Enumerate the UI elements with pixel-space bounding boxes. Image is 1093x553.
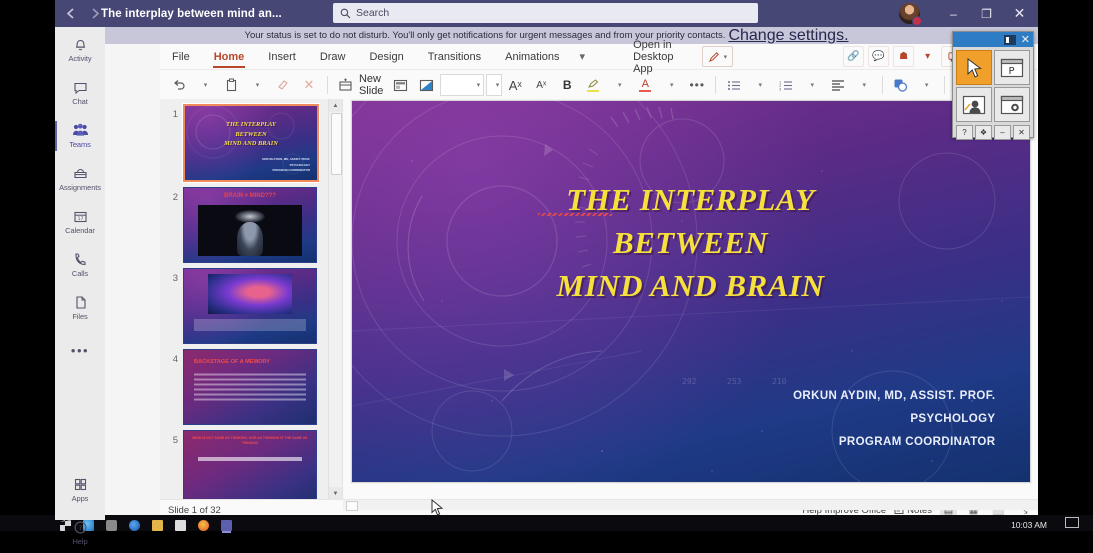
author-line-1: ORKUN AYDIN, MD, ASSIST. PROF. bbox=[793, 385, 995, 408]
windows-taskbar[interactable]: 10:03 AM bbox=[0, 515, 1093, 531]
minimize-button[interactable]: – bbox=[937, 0, 970, 27]
font-color-bar bbox=[639, 90, 651, 92]
highlight-color-bar bbox=[587, 90, 599, 92]
pen-icon bbox=[708, 51, 720, 63]
tab-transitions[interactable]: Transitions bbox=[416, 44, 493, 69]
thumb-title-line-3: MIND AND BRAIN bbox=[185, 139, 317, 149]
change-settings-link[interactable]: Change settings. bbox=[728, 27, 848, 45]
screen-root: chevron-left-icon The interplay between … bbox=[0, 0, 1093, 531]
new-slide-icon[interactable] bbox=[332, 74, 358, 96]
title-line-3: MIND AND BRAIN bbox=[352, 265, 1030, 308]
format-painter-button[interactable] bbox=[270, 74, 296, 96]
thumbnail-preview: BRAIN ≠ MIND??? bbox=[183, 187, 317, 263]
settings-icon[interactable]: ❖ bbox=[975, 125, 992, 140]
reset-icon bbox=[419, 79, 434, 92]
undo-dropdown[interactable]: ▾ bbox=[192, 74, 218, 96]
sidebar-item-calendar[interactable]: 17 Calendar bbox=[55, 202, 105, 242]
grow-font-button[interactable]: Aˣ bbox=[502, 74, 528, 96]
undo-icon bbox=[172, 78, 186, 92]
align-button[interactable] bbox=[825, 74, 851, 96]
cursor-arrow-glyph bbox=[964, 57, 984, 79]
sidebar-item-assignments[interactable]: Assignments bbox=[55, 159, 105, 199]
bullets-dropdown[interactable]: ▾ bbox=[747, 74, 773, 96]
sidebar-item-label: Help bbox=[72, 537, 87, 546]
sidebar-item-calls[interactable]: Calls bbox=[55, 245, 105, 285]
chevron-down-icon[interactable]: ▾ bbox=[572, 44, 594, 69]
teams-app-rail: Activity Chat Teams Assignmen bbox=[55, 27, 105, 520]
webcam-person-icon[interactable] bbox=[956, 87, 992, 122]
minimize-icon[interactable]: – bbox=[994, 125, 1011, 140]
firefox-icon[interactable] bbox=[198, 520, 209, 531]
paste-icon bbox=[225, 78, 238, 92]
thumbnail-number: 3 bbox=[164, 268, 178, 284]
ink-pen-button[interactable]: ▾ bbox=[702, 46, 734, 67]
tab-insert[interactable]: Insert bbox=[256, 44, 308, 69]
files-icon bbox=[73, 295, 88, 310]
slide-counter: Slide 1 of 32 bbox=[168, 505, 221, 516]
slide-layout-button[interactable] bbox=[388, 74, 414, 96]
rail-spacer bbox=[55, 371, 105, 467]
tab-draw[interactable]: Draw bbox=[308, 44, 358, 69]
avatar[interactable] bbox=[899, 3, 921, 25]
shape-fill-dropdown[interactable]: ▾ bbox=[913, 74, 939, 96]
sidebar-item-activity[interactable]: Activity bbox=[55, 30, 105, 70]
presentation-window-icon[interactable]: P bbox=[994, 50, 1030, 85]
shrink-font-button[interactable]: Aˣ bbox=[528, 74, 554, 96]
sidebar-item-more[interactable]: ••• bbox=[55, 331, 105, 371]
bold-button[interactable]: B bbox=[554, 74, 580, 96]
teams-icon bbox=[72, 123, 89, 138]
highlighter-icon bbox=[587, 79, 600, 89]
thumbnail-4[interactable]: 4 BACKSTAGE OF A MEMORY bbox=[160, 344, 342, 425]
shape-fill-button[interactable] bbox=[887, 74, 913, 96]
tab-home[interactable]: Home bbox=[202, 44, 257, 69]
spellcheck-squiggle bbox=[538, 213, 612, 216]
chrome-icon[interactable] bbox=[106, 520, 117, 531]
slide-editor-stage[interactable]: 292253210 bbox=[343, 99, 1038, 500]
link-icon[interactable]: 🔗 bbox=[843, 46, 864, 67]
screen-recorder-toolbar[interactable]: ✕ P bbox=[952, 31, 1034, 138]
powerpoint-app: File Home Insert Draw Design Transitions… bbox=[160, 44, 1038, 520]
sidebar-item-label: Chat bbox=[72, 97, 87, 106]
author-line-2: PSYCHOLOGY bbox=[793, 408, 995, 431]
sidebar-item-help[interactable]: ? Help bbox=[55, 513, 105, 553]
thumb-image bbox=[208, 274, 292, 314]
chevron-down-icon: ▾ bbox=[724, 53, 728, 61]
new-slide-icon bbox=[338, 78, 353, 92]
undo-button[interactable] bbox=[166, 74, 192, 96]
thumb-author: ORKUN AYDIN, MD, ASSIST. PROF. PSYCHOLOG… bbox=[262, 157, 310, 174]
screenshot-glyph bbox=[1000, 95, 1024, 115]
letterbox-right bbox=[1038, 0, 1093, 515]
recorder-close-icon[interactable]: ✕ bbox=[1018, 33, 1033, 46]
scrollbar-thumb[interactable] bbox=[331, 113, 342, 175]
font-color-button[interactable]: A bbox=[632, 74, 658, 96]
thumb-title-line-2: BETWEEN bbox=[185, 130, 317, 140]
format-painter-icon bbox=[276, 78, 290, 92]
screenshot-camera-icon[interactable] bbox=[994, 87, 1030, 122]
numbering-button[interactable]: 1 2 3 bbox=[773, 74, 799, 96]
thumbnail-number: 2 bbox=[164, 187, 178, 203]
teams-task-icon[interactable] bbox=[221, 520, 232, 531]
present-icon[interactable]: ☗ bbox=[893, 46, 914, 67]
thumb-title: BRAIN ≠ MIND??? bbox=[184, 193, 316, 199]
svg-text:17: 17 bbox=[77, 216, 83, 222]
horizontal-scrollbar[interactable] bbox=[343, 500, 1038, 510]
ribbon-toolbar: ▾ ▾ ✕ bbox=[160, 70, 1038, 101]
highlight-dropdown[interactable]: ▾ bbox=[606, 74, 632, 96]
thumbnail-preview: BACKSTAGE OF A MEMORY bbox=[183, 349, 317, 425]
title-bar: chevron-left-icon The interplay between … bbox=[55, 0, 1038, 27]
thumb-title: BACKSTAGE OF A MEMORY bbox=[194, 359, 270, 365]
assignments-icon bbox=[73, 166, 88, 181]
sidebar-item-label: Activity bbox=[69, 54, 92, 63]
sidebar-item-label: Files bbox=[72, 312, 87, 321]
bullet-list-icon bbox=[727, 79, 741, 91]
more-formatting-button[interactable]: ••• bbox=[684, 74, 710, 96]
svg-text:P: P bbox=[1009, 66, 1015, 77]
sidebar-item-label: Assignments bbox=[59, 183, 101, 192]
svg-text:3: 3 bbox=[779, 87, 782, 91]
numbered-list-icon: 1 2 3 bbox=[779, 79, 793, 91]
thumb-title: THE INTERPLAY BETWEEN MIND AND BRAIN bbox=[185, 120, 317, 149]
mouse-cursor-icon bbox=[431, 499, 444, 517]
font-color-dropdown[interactable]: ▾ bbox=[658, 74, 684, 96]
recorder-titlebar[interactable]: ✕ bbox=[953, 32, 1033, 47]
chevron-down-icon: ▾ bbox=[496, 81, 500, 89]
highlight-button[interactable] bbox=[580, 74, 606, 96]
slide-thumbnail-pane[interactable]: 1 THE INTERPLAY BETWEEN bbox=[160, 99, 343, 500]
sidebar-item-files[interactable]: Files bbox=[55, 288, 105, 328]
scroll-up-icon[interactable]: ▲ bbox=[329, 99, 342, 112]
thumbnail-preview: MIND IS NOT SAME AS THINKING, NOR AS THI… bbox=[183, 430, 317, 500]
recorder-footer: ? ❖ – ✕ bbox=[953, 125, 1033, 143]
calls-icon bbox=[73, 252, 88, 267]
notification-icon[interactable] bbox=[1065, 517, 1079, 528]
maximize-button[interactable]: ❐ bbox=[970, 0, 1003, 27]
help-icon: ? bbox=[73, 520, 88, 535]
chevron-down-icon[interactable]: ▾ bbox=[918, 47, 937, 66]
help-question-icon[interactable]: ? bbox=[956, 125, 973, 140]
thumbnail-number: 1 bbox=[164, 104, 178, 120]
recorder-button-grid: P bbox=[953, 47, 1033, 125]
slide-title[interactable]: THE INTERPLAY BETWEEN MIND AND BRAIN bbox=[352, 179, 1030, 307]
sidebar-item-chat[interactable]: Chat bbox=[55, 73, 105, 113]
ribbon-tabs: File Home Insert Draw Design Transitions… bbox=[160, 44, 1038, 70]
tab-file[interactable]: File bbox=[160, 44, 202, 69]
taskbar-clock[interactable]: 10:03 AM bbox=[1011, 520, 1047, 530]
align-dropdown[interactable]: ▾ bbox=[851, 74, 877, 96]
thumbnail-scrollbar[interactable]: ▲ ▼ bbox=[328, 99, 342, 500]
thumb-image bbox=[198, 205, 302, 256]
webcam-glyph bbox=[962, 95, 986, 115]
thumb-text-block bbox=[194, 319, 306, 331]
chat-icon bbox=[73, 80, 88, 95]
window-controls: – ❐ ✕ bbox=[899, 0, 1036, 27]
cut-button[interactable]: ✕ bbox=[296, 74, 322, 96]
thumb-title: MIND IS NOT SAME AS THINKING, NOR AS THI… bbox=[192, 436, 308, 446]
scrollbar-thumb[interactable] bbox=[346, 501, 358, 511]
sidebar-item-teams[interactable]: Teams bbox=[55, 116, 105, 156]
nav-arrow-glyphs bbox=[63, 6, 113, 21]
tab-animations[interactable]: Animations bbox=[493, 44, 571, 69]
thumbnail-number: 4 bbox=[164, 349, 178, 365]
font-size-select[interactable]: ▾ bbox=[486, 74, 502, 96]
browser-icon[interactable] bbox=[129, 520, 140, 531]
letterbox-left bbox=[0, 0, 55, 515]
comment-icon[interactable]: 💬 bbox=[868, 46, 889, 67]
thumbnail-5[interactable]: 5 MIND IS NOT SAME AS THINKING, NOR AS T… bbox=[160, 425, 342, 500]
layout-icon bbox=[393, 79, 408, 92]
thumbnail-1[interactable]: 1 THE INTERPLAY BETWEEN bbox=[160, 99, 342, 182]
calendar-icon: 17 bbox=[73, 209, 88, 224]
svg-text:?: ? bbox=[78, 524, 81, 532]
new-slide-button[interactable]: New Slide bbox=[358, 74, 388, 96]
sidebar-item-label: Calendar bbox=[65, 226, 95, 235]
close-x-icon[interactable]: ✕ bbox=[1013, 125, 1030, 140]
search-icon bbox=[340, 8, 351, 19]
open-in-desktop-app-button[interactable]: Open in Desktop App bbox=[621, 44, 702, 69]
sidebar-item-label: Calls bbox=[72, 269, 88, 278]
thumb-text-block bbox=[194, 372, 306, 402]
workspace: 1 THE INTERPLAY BETWEEN bbox=[160, 99, 1038, 500]
current-slide[interactable]: 292253210 bbox=[351, 100, 1031, 483]
thumbnail-preview: THE INTERPLAY BETWEEN MIND AND BRAIN ORK… bbox=[183, 104, 319, 182]
folder-icon[interactable] bbox=[152, 520, 163, 531]
search-input[interactable]: Search bbox=[333, 3, 758, 23]
chevron-down-icon: ▾ bbox=[477, 81, 481, 89]
author-line-3: PROGRAM COORDINATOR bbox=[793, 431, 995, 454]
sidebar-item-label: Apps bbox=[72, 494, 89, 503]
shape-fill-icon bbox=[893, 78, 908, 92]
thumbnail-3[interactable]: 3 bbox=[160, 263, 342, 344]
recorder-logo-icon bbox=[1004, 35, 1016, 45]
thumb-title-line-1: THE INTERPLAY bbox=[185, 120, 317, 130]
reset-slide-button[interactable] bbox=[414, 74, 440, 96]
more-icon: ••• bbox=[71, 344, 89, 358]
font-family-select[interactable]: ▾ bbox=[440, 74, 484, 96]
paste-button[interactable] bbox=[218, 74, 244, 96]
paste-dropdown[interactable]: ▾ bbox=[244, 74, 270, 96]
store-icon[interactable] bbox=[175, 520, 186, 531]
bell-icon bbox=[73, 37, 88, 52]
presentation-glyph: P bbox=[1000, 58, 1024, 78]
sidebar-item-apps[interactable]: Apps bbox=[55, 470, 105, 510]
thumbnail-preview bbox=[183, 268, 317, 344]
close-button[interactable]: ✕ bbox=[1003, 0, 1036, 27]
tab-design[interactable]: Design bbox=[357, 44, 415, 69]
window-title: The interplay between mind an... bbox=[101, 8, 282, 20]
thumbnail-2[interactable]: 2 BRAIN ≠ MIND??? bbox=[160, 182, 342, 263]
thumb-author-line-3: PROGRAM COORDINATOR bbox=[262, 168, 310, 174]
align-left-icon bbox=[831, 79, 845, 91]
font-color-glyph: A bbox=[642, 79, 649, 89]
slide-author-block[interactable]: ORKUN AYDIN, MD, ASSIST. PROF. PSYCHOLOG… bbox=[793, 385, 995, 454]
status-badge bbox=[912, 16, 922, 26]
numbering-dropdown[interactable]: ▾ bbox=[799, 74, 825, 96]
thumbnail-number: 5 bbox=[164, 430, 178, 446]
thumb-text-block bbox=[198, 457, 302, 461]
bullets-button[interactable] bbox=[721, 74, 747, 96]
sidebar-item-label: Teams bbox=[69, 140, 91, 149]
title-line-1: THE INTERPLAY bbox=[352, 179, 1030, 222]
title-line-2: BETWEEN bbox=[352, 222, 1030, 265]
search-placeholder: Search bbox=[356, 7, 389, 19]
status-notice-bar: Your status is set to do not disturb. Yo… bbox=[55, 27, 1038, 44]
apps-icon bbox=[73, 477, 88, 492]
cursor-arrow-icon[interactable] bbox=[956, 50, 992, 85]
teams-window: chevron-left-icon The interplay between … bbox=[55, 0, 1038, 520]
